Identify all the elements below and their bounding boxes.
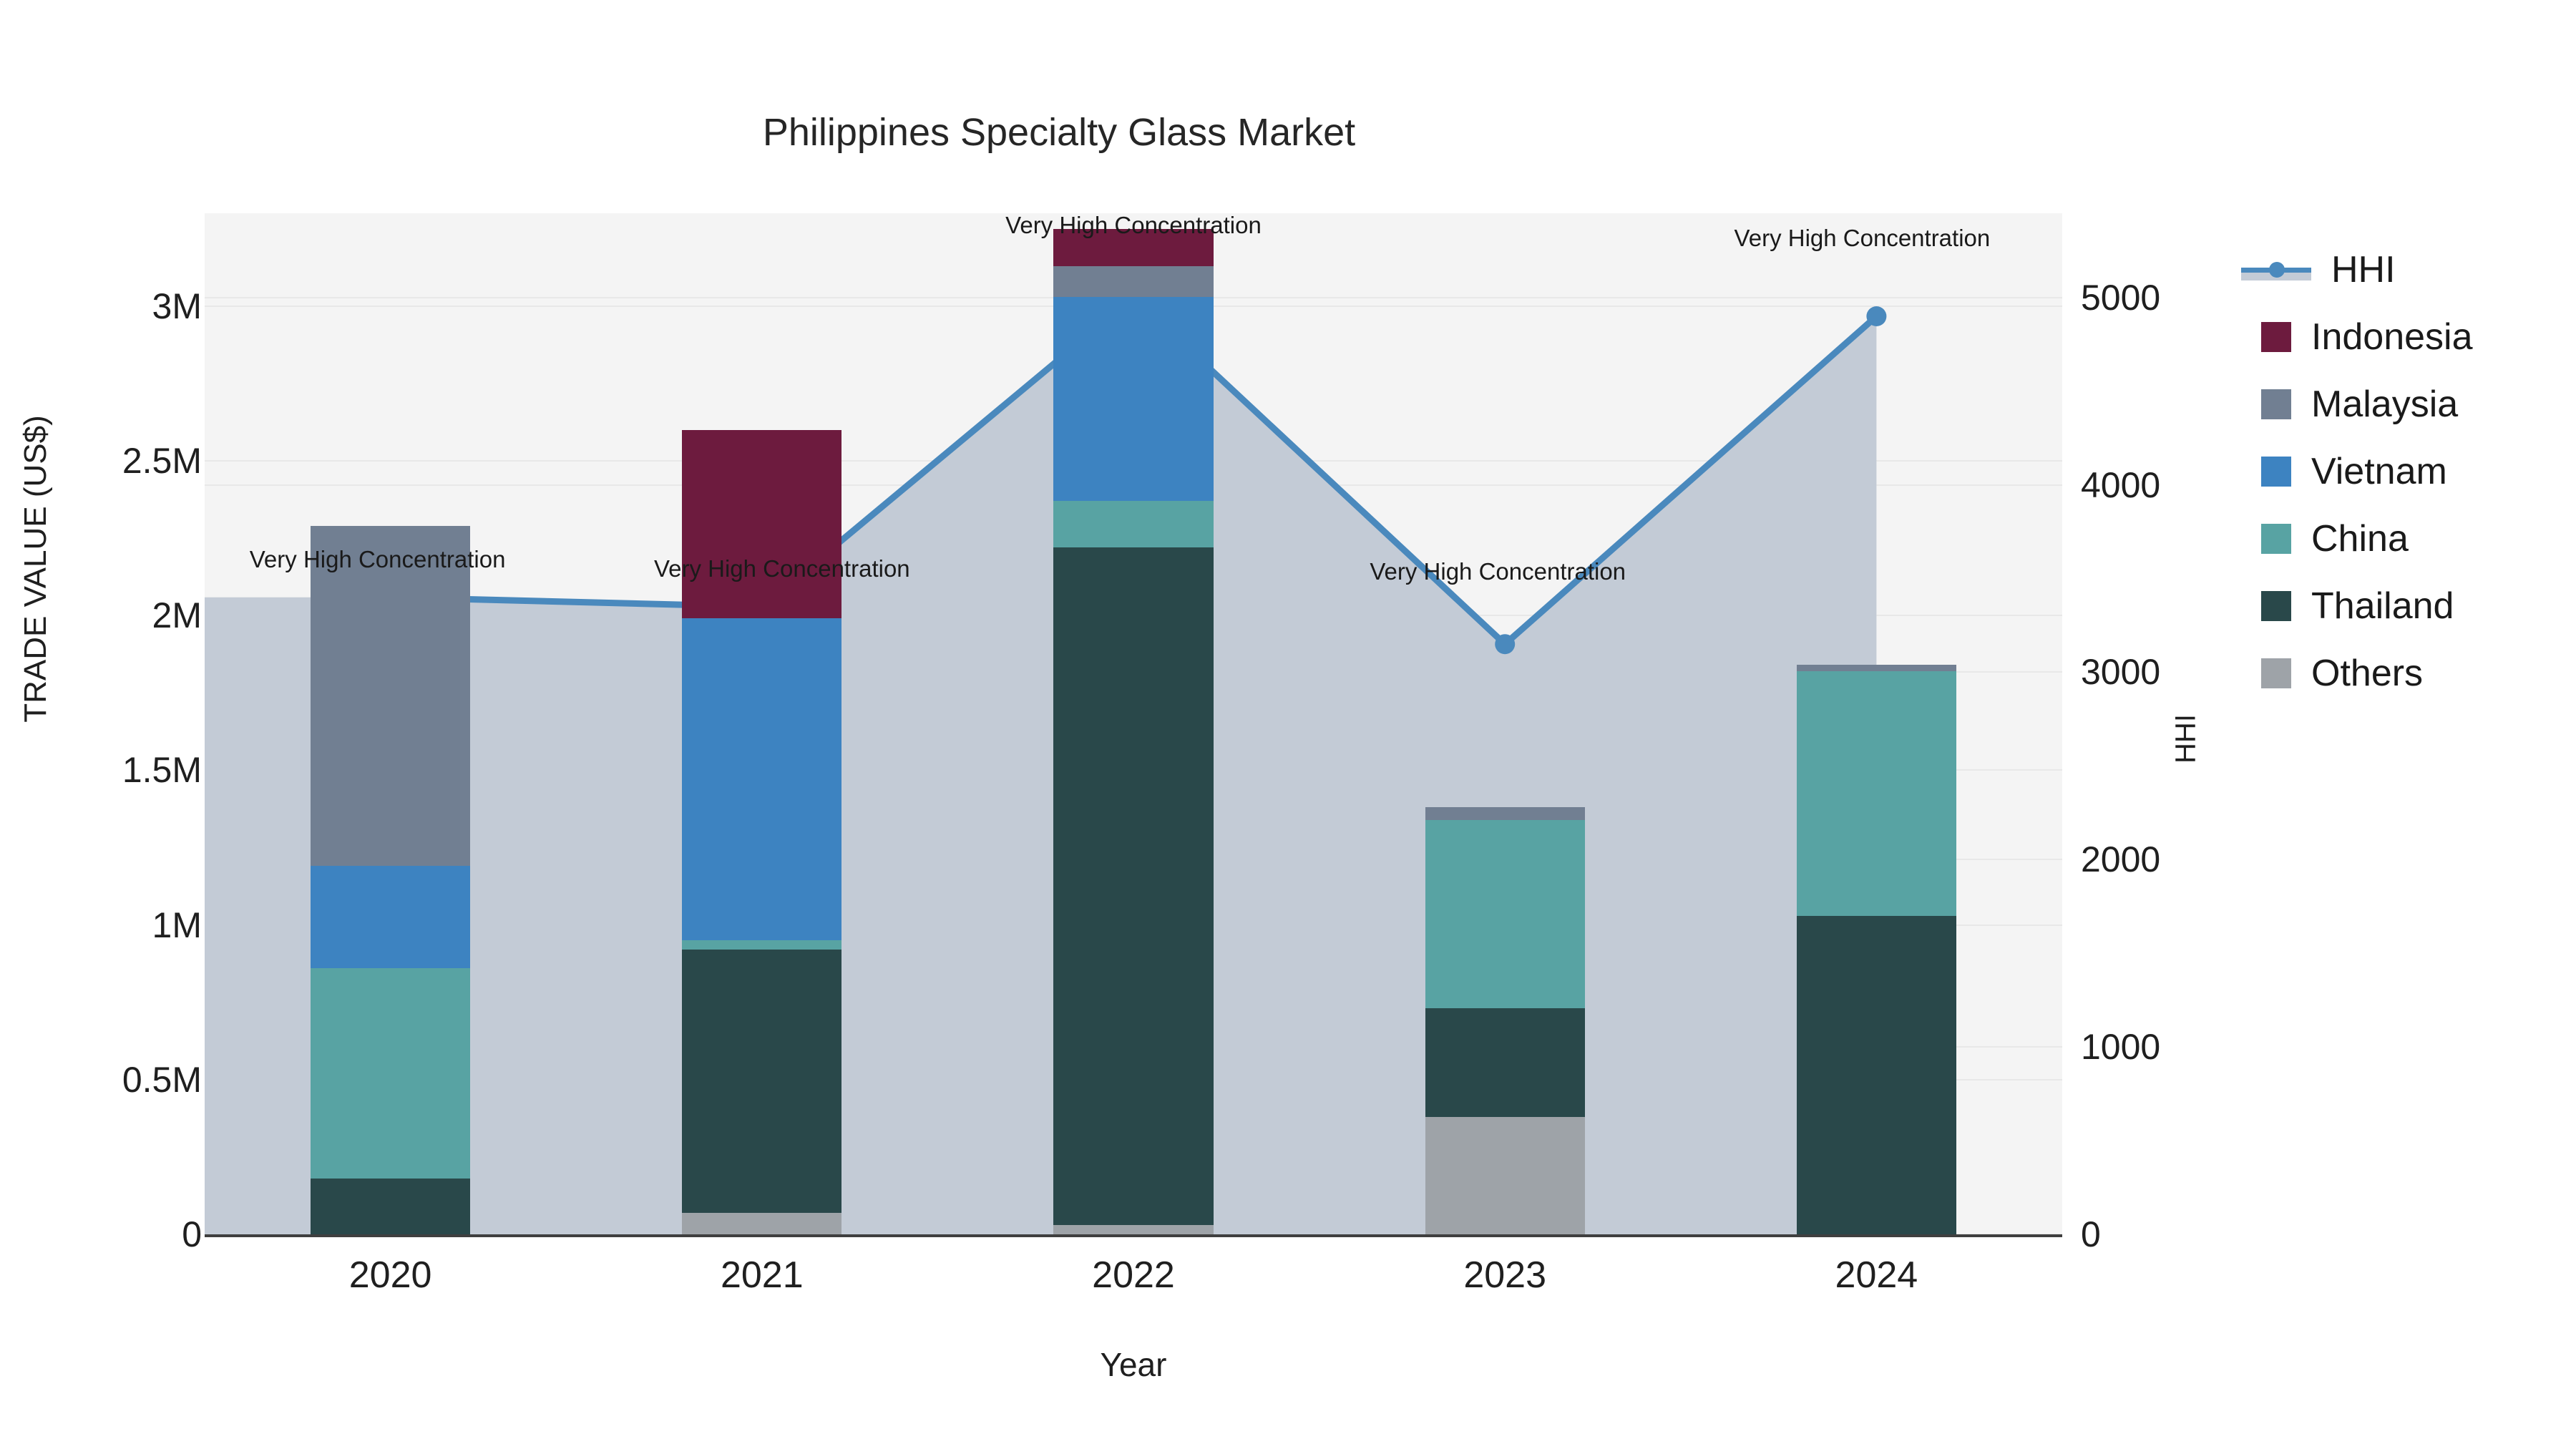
bar-group-2024[interactable] [1797,213,1956,1234]
y-tick-left-3M: 3M [152,286,202,327]
y-tick-left-1.5M: 1.5M [122,749,202,791]
legend-item-hhi[interactable]: HHI [2261,236,2562,303]
legend-item-malaysia[interactable]: Malaysia [2261,371,2562,438]
bar-group-2022[interactable] [1053,213,1213,1234]
y-tick-left-1M: 1M [152,904,202,946]
bar-segment-thailand-2020[interactable] [311,1179,470,1234]
plot-inner [205,213,2062,1234]
legend-swatch-indonesia [2261,322,2291,352]
legend-swatch-malaysia [2261,389,2291,419]
y-tick-left-2.5M: 2.5M [122,440,202,482]
bar-segment-malaysia-2020[interactable] [311,526,470,867]
bar-segment-vietnam-2021[interactable] [682,618,841,940]
x-tick-2022: 2022 [1092,1254,1175,1297]
bar-group-2023[interactable] [1425,213,1585,1234]
legend-label-thailand: Thailand [2311,585,2454,628]
legend-label-indonesia: Indonesia [2311,316,2473,358]
legend-swatch-vietnam [2261,457,2291,487]
y-tick-left-2M: 2M [152,595,202,636]
bar-segment-vietnam-2022[interactable] [1053,297,1213,501]
annotation-2021: Very High Concentration [654,555,910,582]
legend-label-malaysia: Malaysia [2311,383,2458,426]
legend-label-china: China [2311,517,2409,560]
y-tick-right-4000: 4000 [2081,464,2160,506]
y-axis-label-right: HHI [2170,632,2202,847]
bar-segment-thailand-2021[interactable] [682,950,841,1213]
bar-segment-vietnam-2020[interactable] [311,866,470,968]
bar-segment-others-2023[interactable] [1425,1117,1585,1234]
annotation-2024: Very High Concentration [1735,225,1991,252]
bar-segment-china-2021[interactable] [682,940,841,950]
y-tick-right-1000: 1000 [2081,1026,2160,1068]
x-axis-label: Year [205,1345,2062,1384]
bar-segment-china-2022[interactable] [1053,501,1213,547]
bar-segment-china-2024[interactable] [1797,671,1956,916]
bar-segment-malaysia-2022[interactable] [1053,266,1213,297]
legend-item-thailand[interactable]: Thailand [2261,572,2562,640]
legend-line-dot [2269,262,2285,278]
bar-segment-indonesia-2021[interactable] [682,430,841,619]
y-tick-right-3000: 3000 [2081,651,2160,693]
legend-item-vietnam[interactable]: Vietnam [2261,438,2562,505]
annotation-2020: Very High Concentration [250,546,506,573]
legend-label-hhi: HHI [2331,248,2396,291]
legend-swatch-others [2261,658,2291,688]
bar-segment-thailand-2024[interactable] [1797,916,1956,1234]
x-tick-2023: 2023 [1463,1254,1546,1297]
bar-group-2021[interactable] [682,213,841,1234]
legend-swatch-thailand [2261,591,2291,621]
bar-segment-malaysia-2023[interactable] [1425,807,1585,819]
y-tick-right-5000: 5000 [2081,277,2160,318]
bar-group-2020[interactable] [311,213,470,1234]
bar-segment-thailand-2022[interactable] [1053,547,1213,1225]
legend-item-china[interactable]: China [2261,505,2562,572]
y-axis-label-left: TRADE VALUE (US$) [18,247,54,891]
legend-label-others: Others [2311,652,2423,695]
legend-item-indonesia[interactable]: Indonesia [2261,303,2562,371]
legend: HHIIndonesiaMalaysiaVietnamChinaThailand… [2261,236,2562,707]
legend-swatch-china [2261,524,2291,554]
chart-title-line-1: Philippines Specialty Glass Market [0,107,2118,157]
bar-segment-china-2020[interactable] [311,968,470,1179]
legend-item-others[interactable]: Others [2261,640,2562,707]
annotation-2022: Very High Concentration [1005,212,1262,239]
chart-figure: Philippines Specialty Glass Market Impor… [0,0,2576,1449]
y-tick-left-0: 0 [182,1214,202,1255]
bar-segment-malaysia-2024[interactable] [1797,665,1956,671]
y-tick-right-2000: 2000 [2081,839,2160,880]
x-tick-2024: 2024 [1835,1254,1918,1297]
bar-segment-others-2022[interactable] [1053,1225,1213,1234]
x-tick-2020: 2020 [349,1254,432,1297]
bar-segment-china-2023[interactable] [1425,820,1585,1009]
bar-segment-thailand-2023[interactable] [1425,1008,1585,1116]
y-tick-left-0.5M: 0.5M [122,1059,202,1101]
legend-line-icon [2241,255,2311,285]
plot-area: Very High ConcentrationVery High Concent… [205,213,2062,1234]
x-axis-spine [205,1234,2062,1237]
y-tick-right-0: 0 [2081,1214,2101,1255]
legend-label-vietnam: Vietnam [2311,450,2447,493]
bar-segment-others-2021[interactable] [682,1213,841,1234]
annotation-2023: Very High Concentration [1370,558,1626,585]
x-tick-2021: 2021 [721,1254,804,1297]
